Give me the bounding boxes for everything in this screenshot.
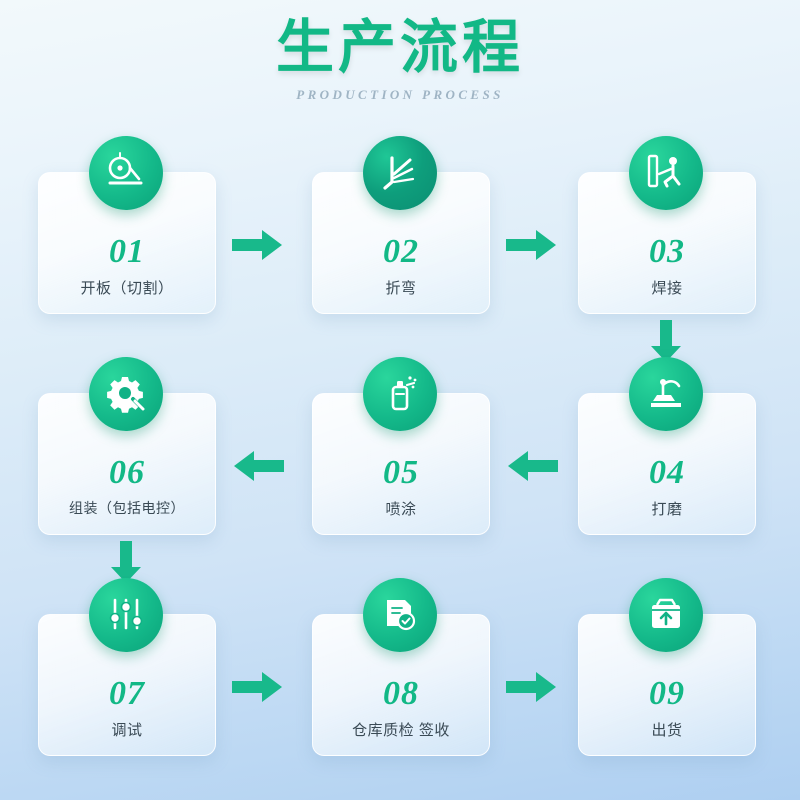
step-label-02: 折弯 <box>313 277 489 298</box>
spray-paint-icon <box>363 357 437 431</box>
step-label-03: 焊接 <box>579 277 755 298</box>
arrow-07-to-08 <box>232 670 284 704</box>
step-label-04: 打磨 <box>579 498 755 519</box>
page-title: 生产流程 <box>0 18 800 79</box>
arrow-04-to-05 <box>506 449 558 483</box>
sliders-icon <box>89 578 163 652</box>
step-label-07: 调试 <box>39 719 215 740</box>
step-number-03: 03 <box>579 233 755 271</box>
step-number-09: 09 <box>579 675 755 713</box>
step-number-07: 07 <box>39 675 215 713</box>
step-label-05: 喷涂 <box>313 498 489 519</box>
page-header: 生产流程 PRODUCTION PROCESS <box>0 18 800 103</box>
quality-check-document-icon <box>363 578 437 652</box>
step-number-08: 08 <box>313 675 489 713</box>
arrow-05-to-06 <box>232 449 284 483</box>
bending-icon <box>363 136 437 210</box>
step-number-01: 01 <box>39 233 215 271</box>
step-label-01: 开板（切割） <box>39 277 215 298</box>
step-number-05: 05 <box>313 454 489 492</box>
page-subtitle: PRODUCTION PROCESS <box>0 87 800 103</box>
shipping-box-icon <box>629 578 703 652</box>
step-label-09: 出货 <box>579 719 755 740</box>
step-number-06: 06 <box>39 454 215 492</box>
process-flow-diagram: 01 开板（切割） 02 折弯 <box>0 150 800 790</box>
step-label-06: 组装（包括电控） <box>39 498 215 518</box>
cutting-saw-icon <box>89 136 163 210</box>
grinding-icon <box>629 357 703 431</box>
arrow-02-to-03 <box>506 228 558 262</box>
step-number-04: 04 <box>579 454 755 492</box>
step-label-08: 仓库质检 签收 <box>313 719 489 740</box>
step-number-02: 02 <box>313 233 489 271</box>
arrow-08-to-09 <box>506 670 558 704</box>
gear-wrench-icon <box>89 357 163 431</box>
welding-worker-icon <box>629 136 703 210</box>
arrow-01-to-02 <box>232 228 284 262</box>
